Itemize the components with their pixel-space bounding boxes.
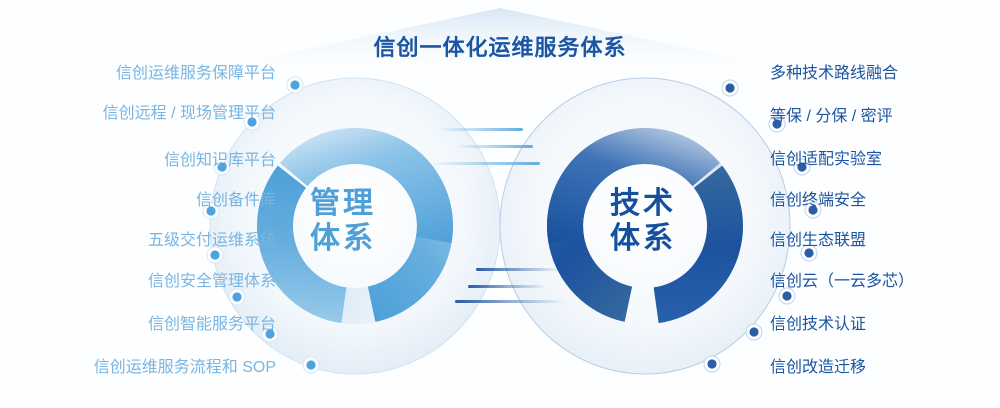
left-ring-label-line2: 体系 [283,221,403,256]
label-right-5[interactable]: 信创生态联盟 [770,233,866,249]
left-ring-label: 管理 体系 [283,186,403,257]
node-dot-icon-right-1[interactable] [722,80,738,96]
label-right-7[interactable]: 信创技术认证 [770,317,866,333]
label-left-6[interactable]: 信创安全管理体系 [148,274,276,290]
label-left-7[interactable]: 信创智能服务平台 [148,317,276,333]
label-left-5[interactable]: 五级交付运维系统 [148,233,276,249]
node-dot-icon-right-8[interactable] [704,356,720,372]
node-dot-icon-left-5[interactable] [207,247,223,263]
infographic-canvas: 信创一体化运维服务体系 管理 体系 技术 体系 信创运维服务保障平台信创远程 /… [0,0,1000,408]
label-left-4[interactable]: 信创备件库 [196,193,276,209]
node-dot-icon-left-1[interactable] [287,77,303,93]
label-right-6[interactable]: 信创云（一云多芯） [770,274,914,290]
node-dot-icon-right-7[interactable] [746,324,762,340]
page-title: 信创一体化运维服务体系 [0,30,1000,62]
label-right-4[interactable]: 信创终端安全 [770,193,866,209]
label-right-8[interactable]: 信创改造迁移 [770,360,866,376]
node-dot-icon-left-8[interactable] [303,357,319,373]
label-left-8[interactable]: 信创运维服务流程和 SOP [94,360,276,376]
label-right-3[interactable]: 信创适配实验室 [770,152,882,168]
label-right-2[interactable]: 等保 / 分保 / 密评 [770,109,893,125]
label-left-3[interactable]: 信创知识库平台 [164,153,276,169]
right-ring-label: 技术 体系 [583,186,703,257]
label-left-1[interactable]: 信创运维服务保障平台 [116,66,276,82]
left-ring-label-line1: 管理 [283,186,403,221]
node-dot-icon-right-6[interactable] [779,288,795,304]
node-dot-icon-left-6[interactable] [229,289,245,305]
right-ring-label-line2: 体系 [583,221,703,256]
label-left-2[interactable]: 信创远程 / 现场管理平台 [103,106,276,122]
right-ring-label-line1: 技术 [583,186,703,221]
label-right-1[interactable]: 多种技术路线融合 [770,66,898,82]
